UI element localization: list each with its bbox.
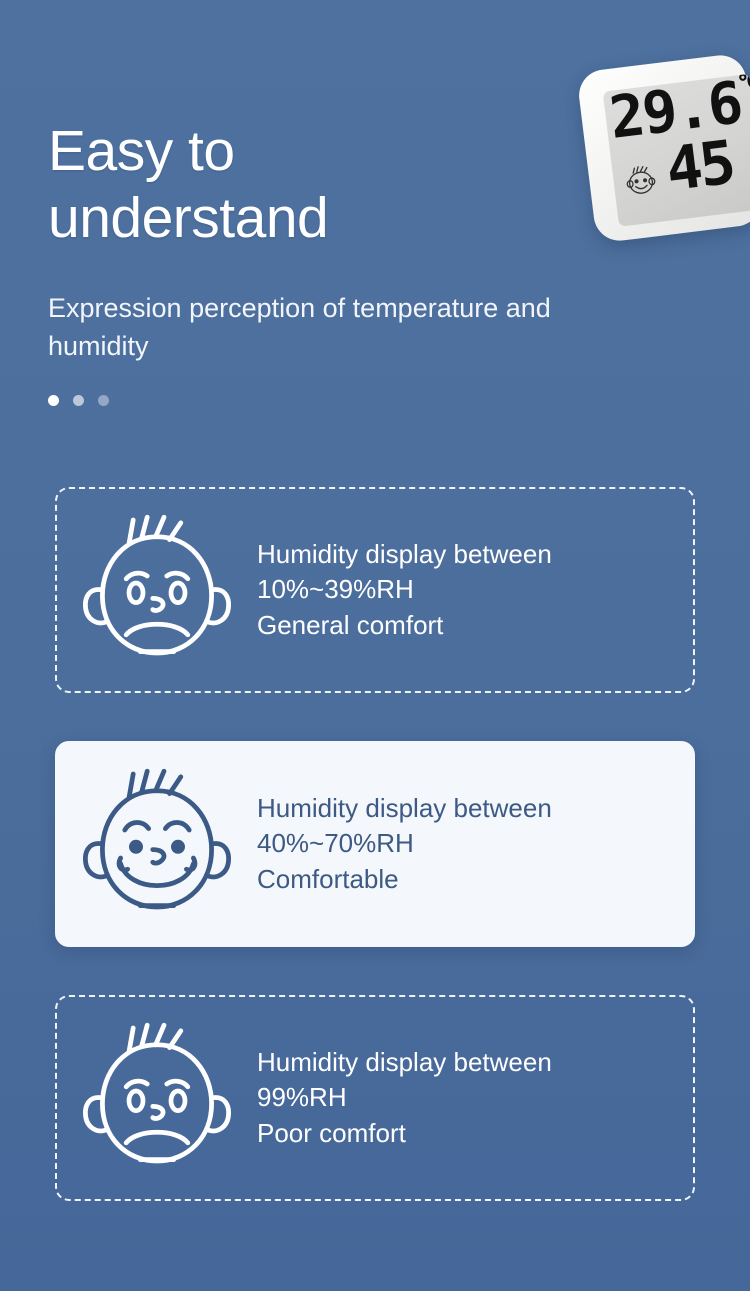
page-title-line-2: understand xyxy=(48,185,608,252)
sad-face-icon xyxy=(73,1014,241,1182)
lcd-temperature-reading: 29.6℃ xyxy=(606,74,750,147)
card-line-2: 10%~39%RH xyxy=(257,572,675,607)
page-title: Easy to understand xyxy=(48,118,608,253)
lcd-happy-face-icon xyxy=(620,160,662,202)
carousel-dots[interactable] xyxy=(48,395,608,406)
card-line-3: General comfort xyxy=(257,608,675,643)
headline-block: Easy to understand Expression perception… xyxy=(48,118,608,406)
comfort-level-list: Humidity display between 10%~39%RH Gener… xyxy=(55,487,695,1249)
page-subtitle: Expression perception of temperature and… xyxy=(48,289,608,366)
happy-face-icon xyxy=(73,760,241,928)
lcd-screen: 29.6℃ 45 xyxy=(603,74,750,227)
card-line-2: 40%~70%RH xyxy=(257,826,675,861)
carousel-dot-1[interactable] xyxy=(48,395,59,406)
carousel-dot-3[interactable] xyxy=(98,395,109,406)
card-line-1: Humidity display between xyxy=(257,537,675,572)
card-line-3: Poor comfort xyxy=(257,1116,675,1151)
lcd-temperature-unit: ℃ xyxy=(737,74,750,95)
comfort-card-poor-comfort[interactable]: Humidity display between 99%RH Poor comf… xyxy=(55,995,695,1201)
sad-face-icon xyxy=(73,506,241,674)
card-line-1: Humidity display between xyxy=(257,1045,675,1080)
comfort-card-general-comfort[interactable]: Humidity display between 10%~39%RH Gener… xyxy=(55,487,695,693)
card-face-slot xyxy=(57,489,257,691)
card-line-2: 99%RH xyxy=(257,1080,675,1115)
card-text-block: Humidity display between 40%~70%RH Comfo… xyxy=(257,791,693,897)
card-line-3: Comfortable xyxy=(257,862,675,897)
card-line-1: Humidity display between xyxy=(257,791,675,826)
card-face-slot xyxy=(57,743,257,945)
comfort-card-comfortable[interactable]: Humidity display between 40%~70%RH Comfo… xyxy=(55,741,695,947)
card-text-block: Humidity display between 10%~39%RH Gener… xyxy=(257,537,693,643)
carousel-dot-2[interactable] xyxy=(73,395,84,406)
lcd-humidity-reading: 45 xyxy=(663,133,736,201)
page-title-line-1: Easy to xyxy=(48,118,608,185)
card-face-slot xyxy=(57,997,257,1199)
card-text-block: Humidity display between 99%RH Poor comf… xyxy=(257,1045,693,1151)
lcd-temperature-value: 29.6 xyxy=(606,74,745,152)
